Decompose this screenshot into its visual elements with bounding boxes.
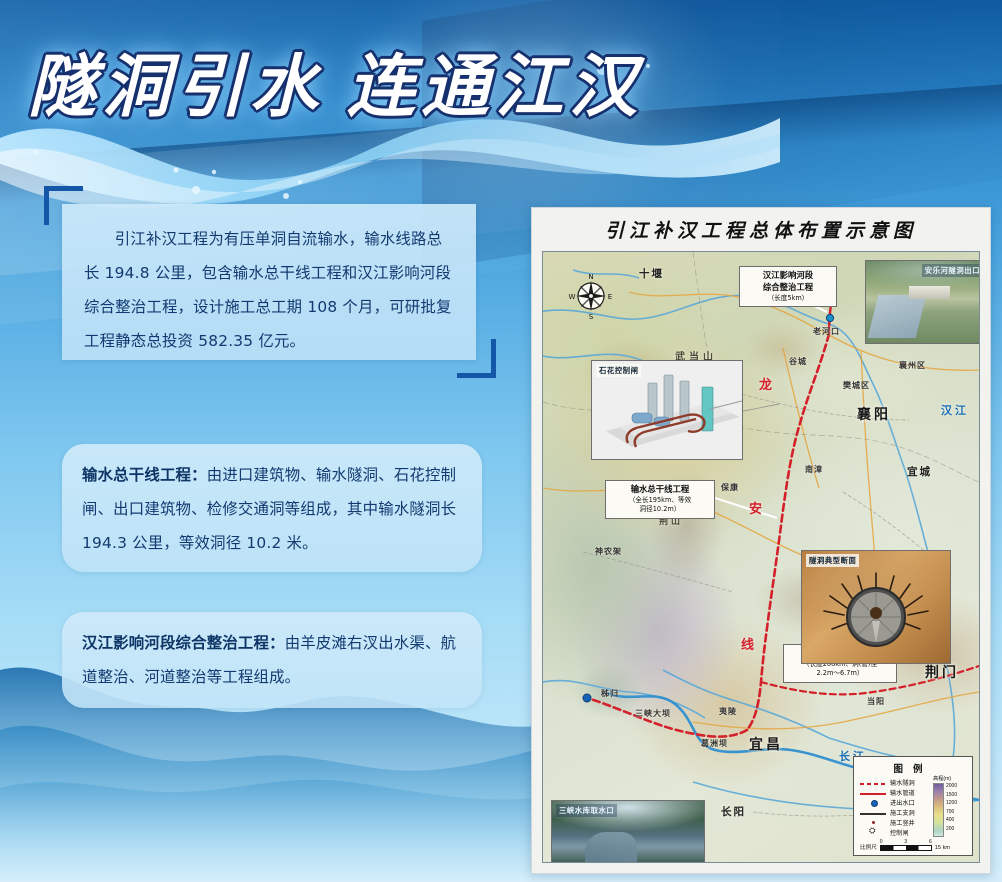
elevation-value-4: 400	[946, 816, 957, 825]
legend-scale-bar: 比例尺 0 3 6 15 km	[860, 839, 950, 851]
map-city-fanchengqu: 樊城区	[843, 380, 870, 391]
svg-text:N: N	[588, 273, 593, 281]
scale-bar-graphic	[880, 845, 932, 851]
inset-gate-structure: 石花控制闸	[591, 360, 743, 460]
callout-hanjiang-line3: （长度5km）	[742, 294, 834, 303]
map-city-laohekou: 老河口	[813, 326, 840, 337]
legend-label-shaft: 施工竖井	[890, 818, 915, 827]
small-dot-icon	[860, 818, 886, 826]
legend-label-tunnel: 输水隧洞	[890, 778, 915, 787]
legend-title: 图例	[854, 757, 972, 777]
inset-outlet-photo: 安乐河隧洞出口	[865, 260, 980, 344]
outlet-photo-structure	[909, 286, 950, 299]
legend-label-pipe: 输水管道	[890, 788, 915, 797]
legend-label-port: 进出水口	[890, 798, 915, 807]
outlet-photo-canal	[868, 295, 927, 338]
callout-main-line1: 输水总干线工程	[608, 484, 712, 496]
regulation-lead: 汉江影响河段综合整治工程：	[82, 634, 285, 652]
overview-text: 引江补汉工程为有压单洞自流输水，输水线路总长 194.8 公里，包含输水总干线工…	[62, 204, 476, 358]
dashed-red-line-icon	[860, 783, 886, 785]
map-title: 引江补汉工程总体布置示意图	[532, 216, 990, 246]
map-feature-gezhouba: 葛洲坝	[701, 738, 728, 749]
elevation-value-1: 1500	[946, 791, 957, 800]
legend-label-gate: 控制闸	[890, 828, 909, 837]
svg-text:E: E	[608, 293, 612, 301]
map-legend: 图例 输水隧洞 输水管道 进出水口 施工支洞	[853, 756, 973, 856]
map-route-label-char2: 安	[749, 498, 762, 517]
callout-hanjiang-line1: 汉江影响河段	[742, 270, 834, 282]
legend-label-adit: 施工支洞	[890, 808, 915, 817]
map-city-zigui: 秭归	[601, 688, 619, 699]
inset-outlet-caption: 安乐河隧洞出口	[922, 264, 980, 277]
elevation-value-0: 2000	[946, 782, 957, 791]
scale-tick-3: 15 km	[935, 845, 950, 851]
map-city-nanzhang: 南漳	[805, 464, 823, 475]
regulation-text: 汉江影响河段综合整治工程：由羊皮滩右汊出水渠、航道整治、河道整治等工程组成。	[62, 612, 482, 694]
elevation-color-bar	[933, 783, 944, 837]
map-city-dangyang: 当阳	[867, 696, 885, 707]
map-city-shennongjia: 神农架	[595, 546, 622, 557]
map-route-label-char3: 线	[741, 634, 754, 653]
callout-supply-line3: 2.2m～6.7m）	[786, 669, 894, 678]
dark-line-icon	[860, 813, 886, 815]
callout-hanjiang-line2: 综合整治工程	[742, 282, 834, 294]
inset-intake-photo: 三峡水库取水口	[551, 800, 705, 863]
inset-gate-caption: 石花控制闸	[596, 364, 641, 377]
overview-panel-wrapper: 引江补汉工程为有压单洞自流输水，输水线路总长 194.8 公里，包含输水总干线工…	[44, 186, 496, 378]
callout-hanjiang-reach: 汉江影响河段 综合整治工程 （长度5km）	[739, 266, 837, 307]
map-city-xiangyang: 襄阳	[857, 404, 891, 424]
map-city-jingmen: 荆门	[925, 662, 959, 682]
callout-main-line3: 洞径10.2m）	[608, 505, 712, 514]
map-city-changyang: 长阳	[721, 804, 746, 819]
callout-main-line2: （全长195km、等效	[608, 496, 712, 505]
elevation-value-5: 200	[946, 825, 957, 834]
callout-main-line: 输水总干线工程 （全长195km、等效 洞径10.2m）	[605, 480, 715, 519]
intake-photo-reservoir	[585, 832, 637, 863]
map-feature-sanxia-dam: 三峡大坝	[635, 708, 671, 719]
gate-mark-icon	[860, 828, 886, 836]
elevation-caption: 高程(m)	[933, 775, 967, 782]
main-line-text: 输水总干线工程：由进口建筑物、输水隧洞、石花控制闸、出口建筑物、检修交通洞等组成…	[62, 444, 482, 560]
blue-dot-icon	[860, 798, 886, 806]
solid-red-line-icon	[860, 793, 886, 795]
inset-tunnel-caption: 隧洞典型断面	[806, 554, 859, 567]
map-route-label-char1: 龙	[759, 374, 772, 393]
map-city-gucheng: 谷城	[789, 356, 807, 367]
map-city-baokang: 保康	[721, 482, 739, 493]
scale-label: 比例尺	[860, 843, 877, 851]
map-city-shiyan: 十堰	[639, 266, 664, 281]
regulation-panel: 汉江影响河段综合整治工程：由羊皮滩右汊出水渠、航道整治、河道整治等工程组成。	[62, 612, 482, 708]
map-card: 引江补汉工程总体布置示意图	[531, 207, 991, 874]
inset-tunnel-section: 隧洞典型断面	[801, 550, 951, 664]
compass-rose: N S E W	[567, 272, 615, 320]
map-canvas[interactable]: N S E W 十堰 丹江口 老河口 谷城 樊城区 襄州区 襄阳 南漳 宜城 保…	[543, 252, 979, 862]
elevation-values: 2000 1500 1200 700 400 200	[946, 782, 957, 834]
overview-panel: 引江补汉工程为有压单洞自流输水，输水线路总长 194.8 公里，包含输水总干线工…	[62, 204, 476, 360]
inset-intake-caption: 三峡水库取水口	[556, 804, 617, 817]
elevation-value-2: 1200	[946, 799, 957, 808]
svg-text:W: W	[569, 293, 576, 301]
map-city-yiling: 夷陵	[719, 706, 737, 717]
map-city-yichang: 宜昌	[749, 734, 783, 754]
map-feature-hanjiang: 汉江	[941, 402, 969, 418]
legend-elevation: 高程(m) 2000 1500 1200 700 400 200	[933, 775, 967, 837]
svg-text:S: S	[589, 313, 594, 320]
map-city-yicheng: 宜城	[907, 464, 932, 479]
elevation-value-3: 700	[946, 808, 957, 817]
main-line-lead: 输水总干线工程：	[82, 466, 207, 484]
poster-canvas: 隧洞引水 连通江汉	[0, 0, 1002, 882]
map-city-xiangzhouqu: 襄州区	[899, 360, 926, 371]
main-line-panel: 输水总干线工程：由进口建筑物、输水隧洞、石花控制闸、出口建筑物、检修交通洞等组成…	[62, 444, 482, 572]
map-frame[interactable]: N S E W 十堰 丹江口 老河口 谷城 樊城区 襄州区 襄阳 南漳 宜城 保…	[542, 251, 980, 863]
poster-title: 隧洞引水 连通江汉	[28, 46, 708, 128]
